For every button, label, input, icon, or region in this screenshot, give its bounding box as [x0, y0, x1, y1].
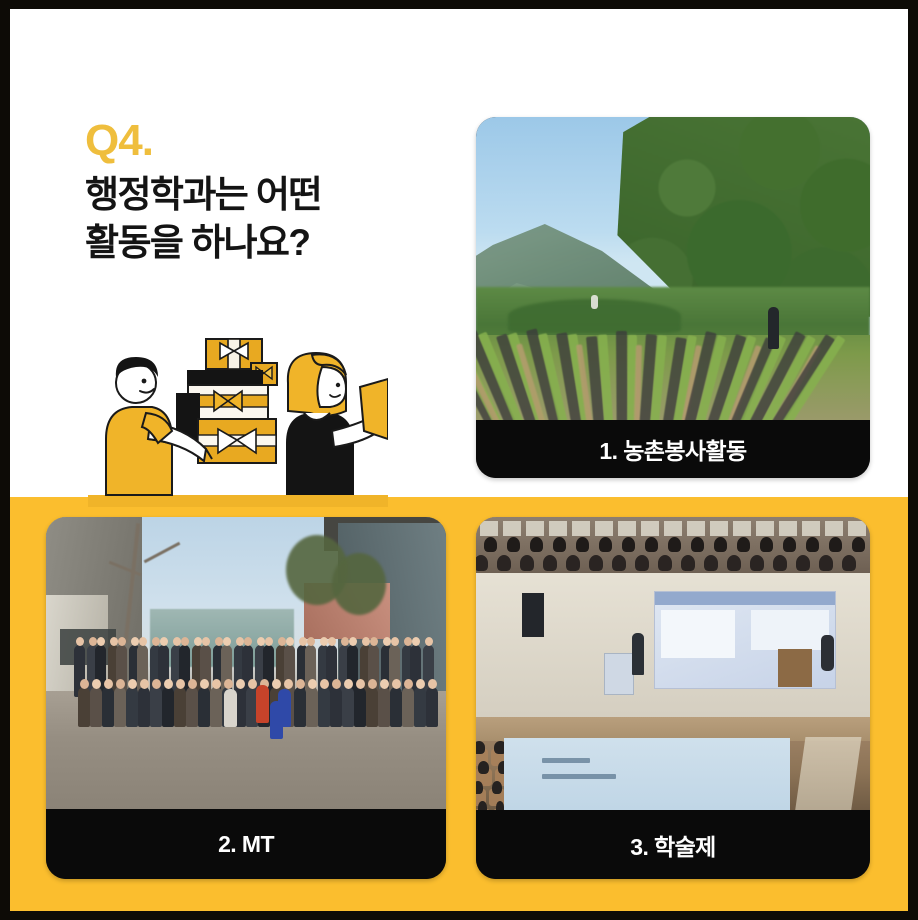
illustration-svg	[88, 327, 388, 507]
heading-block: Q4. 행정학과는 어떤 활동을 하나요?	[85, 119, 465, 267]
card-1-caption: 1. 농촌봉사활동	[476, 420, 870, 478]
photo-academic-conference	[476, 517, 870, 810]
activity-card-3[interactable]: 3. 학술제	[476, 517, 870, 879]
photo-rural-volunteering	[476, 117, 870, 420]
question-number: Q4.	[85, 119, 465, 163]
gift-exchange-illustration	[88, 327, 388, 507]
card-2-caption: 2. MT	[46, 809, 446, 879]
poster-frame: Q4. 행정학과는 어떤 활동을 하나요?	[0, 0, 918, 920]
woman-illustration	[286, 353, 388, 495]
card-3-caption: 3. 학술제	[476, 810, 870, 879]
activity-card-1[interactable]: 1. 농촌봉사활동	[476, 117, 870, 478]
page-title: 행정학과는 어떤 활동을 하나요?	[85, 171, 465, 267]
activity-card-2[interactable]: 2. MT	[46, 517, 446, 879]
photo-group-mt	[46, 517, 446, 809]
